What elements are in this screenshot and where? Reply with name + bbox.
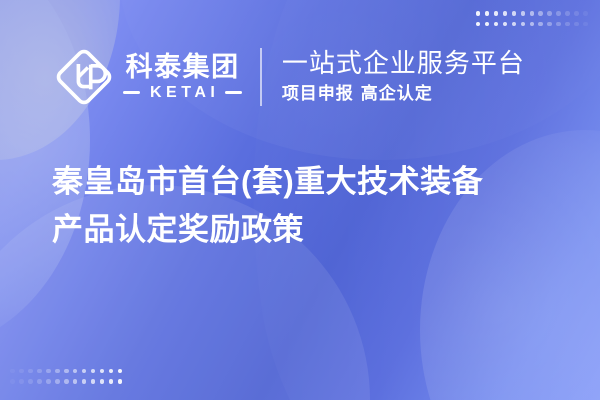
- decorative-dot: [565, 22, 570, 27]
- header-divider: [260, 48, 262, 106]
- page-title-line-1: 秦皇岛市首台(套)重大技术装备: [52, 158, 552, 206]
- decorative-dot: [583, 22, 588, 27]
- slogan-main: 一站式企业服务平台: [282, 49, 525, 80]
- page-title: 秦皇岛市首台(套)重大技术装备 产品认定奖励政策: [52, 158, 552, 254]
- decorative-dot: [82, 379, 87, 384]
- decorative-dot: [530, 11, 535, 16]
- brand-name-en-row: KETAI: [123, 85, 242, 101]
- decorative-dot: [485, 11, 490, 16]
- decorative-dot: [521, 22, 526, 27]
- decorative-dot: [64, 379, 69, 384]
- brand-wordmark: 科泰集团 KETAI: [123, 53, 242, 100]
- decorative-dot: [485, 22, 490, 27]
- decorative-dot: [556, 22, 561, 27]
- decorative-dot: [19, 369, 24, 374]
- brand-name-cn: 科泰集团: [126, 53, 240, 81]
- dot-grid-bottom-left: [10, 369, 122, 384]
- decorative-dot: [82, 369, 87, 374]
- decorative-dot: [583, 11, 588, 16]
- decorative-dot: [91, 379, 96, 384]
- decorative-dot: [574, 11, 579, 16]
- dot-row: [10, 379, 122, 384]
- decorative-dot: [28, 379, 33, 384]
- promo-banner: 科泰集团 KETAI 一站式企业服务平台 项目申报 高企认定 秦皇岛市首台(套)…: [0, 0, 600, 400]
- decorative-dot: [547, 22, 552, 27]
- decorative-dot: [19, 379, 24, 384]
- decorative-dot: [476, 22, 481, 27]
- decorative-dot: [55, 379, 60, 384]
- slogan-block: 一站式企业服务平台 项目申报 高企认定: [282, 49, 525, 106]
- decorative-dot: [55, 369, 60, 374]
- dot-row: [10, 369, 122, 374]
- decorative-dot: [521, 11, 526, 16]
- ketai-diamond-kd-logo-icon: [56, 49, 112, 105]
- decorative-dot: [64, 369, 69, 374]
- decorative-dot: [574, 22, 579, 27]
- decorative-dot: [538, 11, 543, 16]
- decorative-dot: [118, 369, 123, 374]
- decorative-dot: [109, 369, 114, 374]
- decorative-dot: [37, 379, 42, 384]
- brand-logo[interactable]: 科泰集团 KETAI: [56, 49, 242, 105]
- decorative-dot: [565, 11, 570, 16]
- decorative-dot: [37, 369, 42, 374]
- decorative-dot: [530, 22, 535, 27]
- wordmark-rule-left-icon: [123, 91, 140, 94]
- decorative-dot: [100, 369, 105, 374]
- brand-name-en: KETAI: [146, 85, 219, 101]
- dot-row: [476, 22, 588, 27]
- decorative-dot: [547, 11, 552, 16]
- decorative-dot: [46, 369, 51, 374]
- decorative-dot: [494, 11, 499, 16]
- decorative-dot: [91, 369, 96, 374]
- decorative-dot: [118, 379, 123, 384]
- decorative-dot: [100, 379, 105, 384]
- decorative-dot: [512, 11, 517, 16]
- decorative-dot: [503, 11, 508, 16]
- decorative-dot: [556, 11, 561, 16]
- decorative-dot: [10, 379, 15, 384]
- decorative-dot: [73, 369, 78, 374]
- dot-grid-top-right: [476, 11, 588, 26]
- decorative-dot: [10, 369, 15, 374]
- banner-header: 科泰集团 KETAI 一站式企业服务平台 项目申报 高企认定: [0, 42, 600, 112]
- decorative-dot: [503, 22, 508, 27]
- decorative-dot: [28, 369, 33, 374]
- wordmark-rule-right-icon: [225, 91, 242, 94]
- page-title-line-2: 产品认定奖励政策: [52, 206, 552, 254]
- decorative-dot: [538, 22, 543, 27]
- decorative-dot: [512, 22, 517, 27]
- decorative-dot: [73, 379, 78, 384]
- decorative-dot: [494, 22, 499, 27]
- slogan-sub: 项目申报 高企认定: [282, 83, 525, 105]
- decorative-dot: [46, 379, 51, 384]
- decorative-dot: [476, 11, 481, 16]
- dot-row: [476, 11, 588, 16]
- decorative-dot: [109, 379, 114, 384]
